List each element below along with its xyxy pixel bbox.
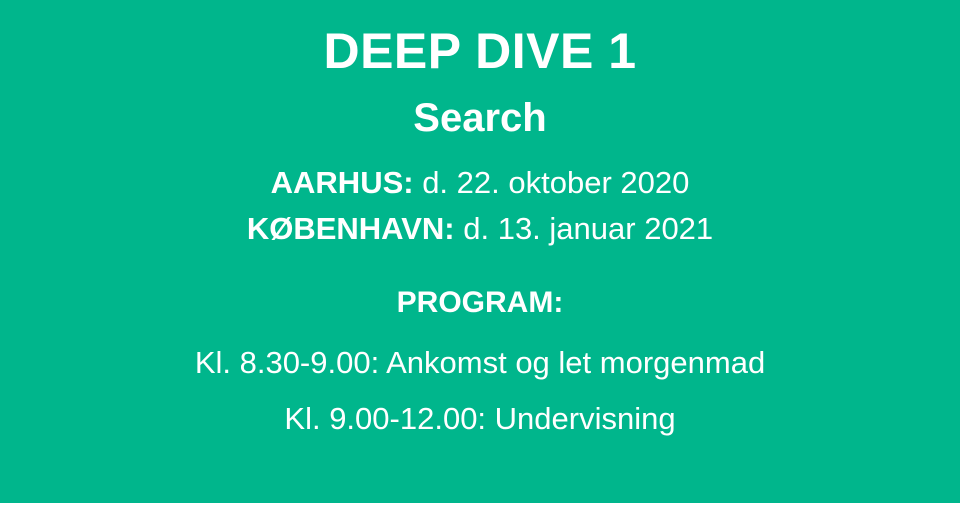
event-date-value-aarhus: d. 22. oktober 2020 — [414, 165, 690, 200]
event-date-kobenhavn: KØBENHAVN: d. 13. januar 2021 — [247, 212, 713, 246]
program-item: Kl. 9.00-12.00: Undervisning — [284, 402, 675, 436]
page-subtitle: Search — [413, 98, 546, 138]
program-item: Kl. 8.30-9.00: Ankomst og let morgenmad — [195, 346, 765, 380]
event-city-label-kobenhavn: KØBENHAVN: — [247, 211, 455, 246]
event-poster: DEEP DIVE 1 Search AARHUS: d. 22. oktobe… — [0, 0, 960, 503]
page-title: DEEP DIVE 1 — [323, 26, 636, 76]
event-city-label-aarhus: AARHUS: — [271, 165, 414, 200]
event-date-aarhus: AARHUS: d. 22. oktober 2020 — [271, 166, 690, 200]
program-heading: PROGRAM: — [397, 288, 564, 318]
event-date-value-kobenhavn: d. 13. januar 2021 — [455, 211, 714, 246]
